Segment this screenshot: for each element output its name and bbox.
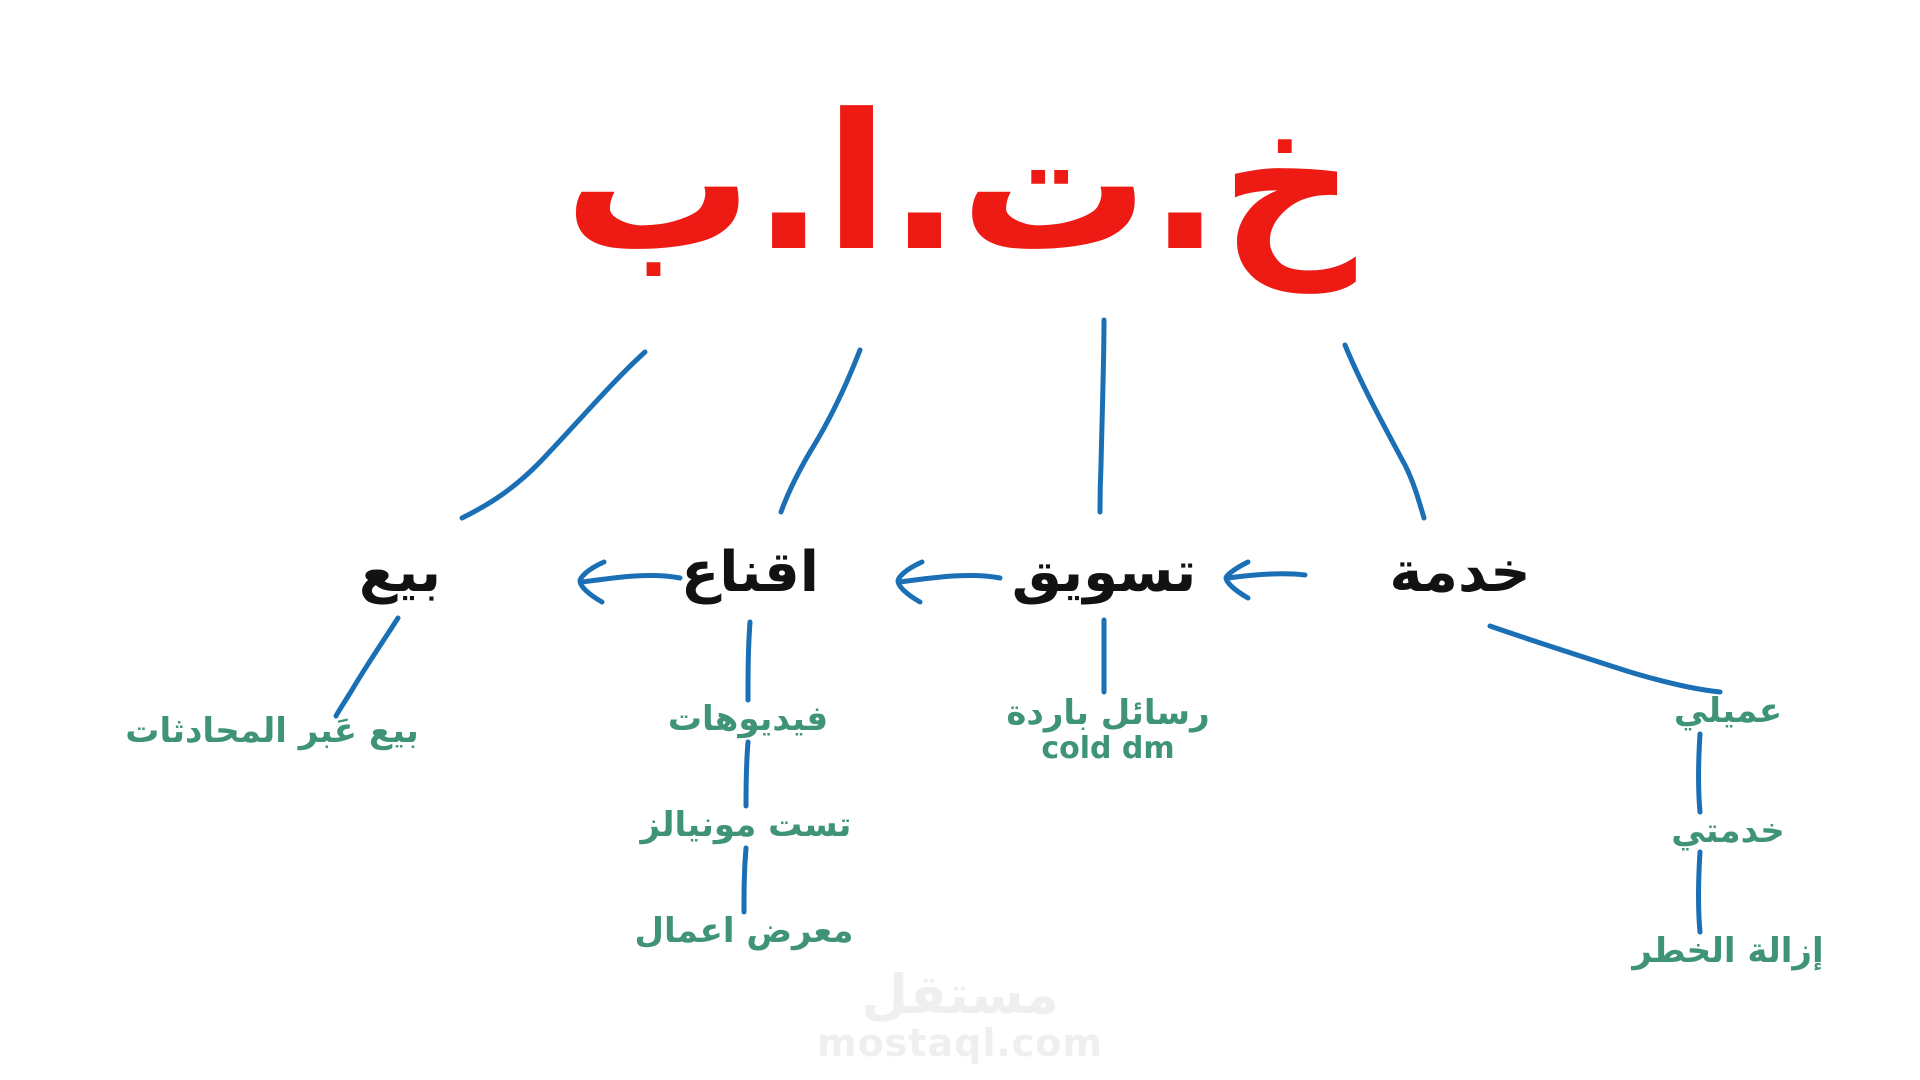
connector-title-to-marketing [1100, 320, 1104, 512]
connector-title-to-service [1345, 345, 1424, 518]
node-sell-label: بيع [359, 540, 441, 605]
connector-title-to-persuade [781, 350, 860, 512]
node-cold-dm-label: رسائل باردة [1006, 693, 1209, 733]
connector-my-service-to-risk-removal [1699, 852, 1701, 932]
node-marketing[interactable]: تسويق [1012, 545, 1197, 601]
connector-service-to-my-client [1490, 626, 1720, 692]
node-my-service-label: خدمتي [1671, 811, 1784, 851]
arrow-persuade-to-sell [582, 575, 680, 582]
arrow-marketing-to-persuade [900, 575, 1000, 582]
node-persuade-label: اقناع [681, 540, 819, 605]
connector-testimonials-to-portfolio [744, 848, 746, 912]
diagram-title: خ.ت.ا.ب [0, 90, 1920, 278]
arrow-head-service-to-marketing [1226, 562, 1248, 598]
node-my-client[interactable]: عميلي [1674, 692, 1782, 730]
node-marketing-label: تسويق [1012, 540, 1197, 605]
watermark-domain: mostaql.com [817, 1022, 1103, 1066]
connector-persuade-to-videos [748, 622, 750, 700]
node-service-label: خدمة [1389, 540, 1530, 605]
watermark: مستقل mostaql.com [817, 968, 1103, 1066]
connector-title-to-sell [462, 352, 645, 518]
node-portfolio[interactable]: معرض اعمال [635, 912, 854, 950]
diagram-canvas: خ.ت.ا.ب بيع اقناع تسويق خدمة بيع عَبر ال… [0, 0, 1920, 1080]
node-persuade[interactable]: اقناع [681, 545, 819, 601]
node-testimonials[interactable]: تست مونيالز [641, 806, 852, 844]
node-portfolio-label: معرض اعمال [635, 911, 854, 951]
node-cold-dm-sublabel: cold dm [1006, 732, 1209, 766]
node-videos[interactable]: فيديوهات [668, 700, 828, 738]
node-chat-sales[interactable]: بيع عَبر المحادثات [125, 712, 418, 750]
arrow-head-marketing-to-persuade [898, 562, 922, 602]
node-chat-sales-label: بيع عَبر المحادثات [125, 711, 418, 751]
arrow-head-persuade-to-sell [580, 562, 604, 602]
node-videos-label: فيديوهات [668, 699, 828, 739]
node-cold-dm[interactable]: رسائل باردة cold dm [1006, 694, 1209, 766]
watermark-arabic: مستقل [817, 968, 1103, 1022]
connector-sell-to-chat-sales [336, 618, 398, 716]
node-risk-removal-label: إزالة الخطر [1632, 931, 1823, 971]
node-service[interactable]: خدمة [1389, 545, 1530, 601]
arrow-service-to-marketing [1228, 574, 1305, 578]
node-risk-removal[interactable]: إزالة الخطر [1632, 932, 1823, 970]
node-testimonials-label: تست مونيالز [641, 805, 852, 845]
node-sell[interactable]: بيع [359, 545, 441, 601]
node-my-client-label: عميلي [1674, 691, 1782, 731]
connector-my-client-to-my-service [1699, 734, 1701, 812]
connector-videos-to-testimonials [746, 742, 748, 806]
node-my-service[interactable]: خدمتي [1671, 812, 1784, 850]
